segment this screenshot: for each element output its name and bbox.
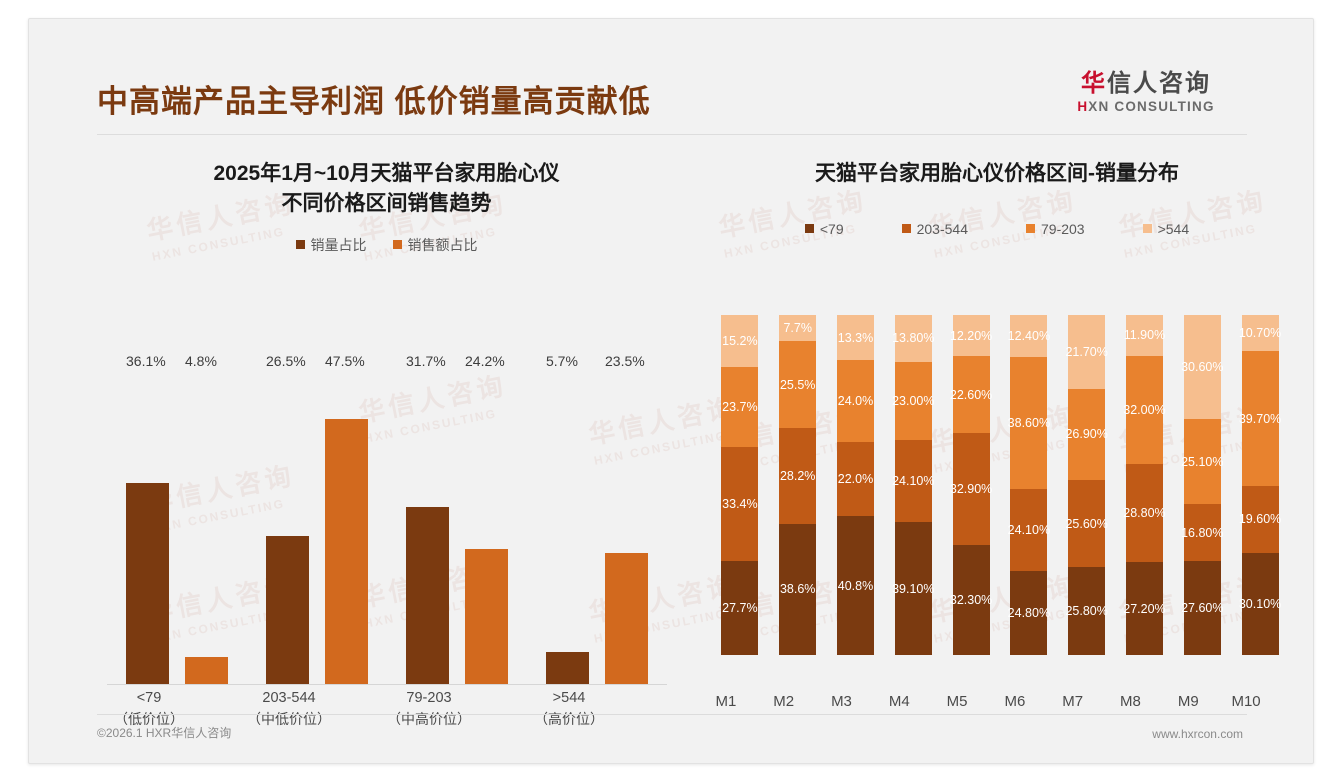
- legend-item-label: 销量占比: [311, 235, 367, 255]
- stack-segment-M8-<79[interactable]: 27.20%: [1126, 562, 1163, 655]
- stack-segment-M2-203-544[interactable]: 28.2%: [779, 428, 816, 524]
- stack-segment-label: 27.60%: [1181, 601, 1223, 615]
- legend-swatch-icon: [805, 224, 814, 233]
- stack-segment-M7-79-203[interactable]: 26.90%: [1068, 389, 1105, 480]
- stack-segment-label: 32.00%: [1123, 403, 1165, 417]
- slide-canvas: 中高端产品主导利润 低价销量高贡献低 华信人咨询 HXN CONSULTING …: [0, 0, 1340, 780]
- stack-segment-label: 12.20%: [950, 329, 992, 343]
- logo-english: HXN CONSULTING: [1051, 99, 1241, 114]
- stack-segment-label: 21.70%: [1065, 345, 1107, 359]
- stacked-column: 21.70%26.90%25.60%25.80%: [1058, 315, 1116, 689]
- x-axis-label-main: >544: [553, 690, 586, 706]
- stack-segment-M2-79-203[interactable]: 25.5%: [779, 341, 816, 428]
- x-axis-label-main: <79: [137, 690, 162, 706]
- stack-segment-M5-203-544[interactable]: 32.90%: [953, 433, 990, 545]
- stack-segment-M6->544[interactable]: 12.40%: [1010, 315, 1047, 357]
- month-label-M2: M2: [755, 693, 813, 710]
- stacked-bar-M7[interactable]: 21.70%26.90%25.60%25.80%: [1068, 315, 1105, 689]
- bar-column: 5.7%: [546, 375, 589, 684]
- stack-segment-M4-<79[interactable]: 39.10%: [895, 522, 932, 655]
- x-axis-label-sub: （中高价位）: [359, 709, 499, 731]
- stack-segment-label: 25.10%: [1181, 455, 1223, 469]
- page-title: 中高端产品主导利润 低价销量高贡献低: [97, 76, 651, 121]
- stack-segment-M1->544[interactable]: 15.2%: [721, 315, 758, 367]
- stack-segment-label: 16.80%: [1181, 526, 1223, 540]
- legend-item-1[interactable]: 销售额占比: [393, 235, 478, 255]
- legend-swatch-icon: [393, 240, 402, 249]
- stacked-bar-M2[interactable]: 7.7%25.5%28.2%38.6%: [779, 315, 816, 689]
- bar-group: 5.7%23.5%: [527, 375, 667, 684]
- stack-segment-M4-79-203[interactable]: 23.00%: [895, 362, 932, 440]
- logo-chinese-accent: 华: [1081, 70, 1107, 97]
- right-chart-legend: <79203-54479-203>544: [697, 221, 1297, 237]
- legend-item-2[interactable]: 79-203: [1026, 221, 1085, 237]
- bar-79-203-销量占比[interactable]: 31.7%: [406, 507, 449, 684]
- stack-segment-label: 30.10%: [1239, 597, 1281, 611]
- stack-segment-label: 7.7%: [783, 321, 812, 335]
- stack-segment-label: 22.0%: [838, 472, 873, 486]
- right-chart-panel: 天猫平台家用胎心仪价格区间-销量分布 <79203-54479-203>544 …: [697, 137, 1297, 717]
- left-chart-title-line2: 不同价格区间销售趋势: [79, 189, 694, 219]
- left-chart-plot: 36.1%4.8%26.5%47.5%31.7%24.2%5.7%23.5%: [107, 375, 667, 685]
- stack-segment-label: 24.10%: [1008, 523, 1050, 537]
- stack-segment-M2-<79[interactable]: 38.6%: [779, 524, 816, 655]
- bar-value-label: 36.1%: [126, 353, 166, 369]
- stacked-column: 11.90%32.00%28.80%27.20%: [1116, 315, 1174, 689]
- legend-swatch-icon: [902, 224, 911, 233]
- bar-value-label: 4.8%: [185, 353, 217, 369]
- left-chart-title: 2025年1月~10月天猫平台家用胎心仪 不同价格区间销售趋势: [79, 159, 694, 219]
- stack-segment-label: 10.70%: [1239, 326, 1281, 340]
- logo-english-accent: H: [1077, 99, 1088, 114]
- legend-item-0[interactable]: 销量占比: [296, 235, 367, 255]
- stack-segment-M5->544[interactable]: 12.20%: [953, 315, 990, 356]
- stack-segment-label: 32.90%: [950, 482, 992, 496]
- x-axis-label-sub: （中低价位）: [219, 709, 359, 731]
- month-label-M1: M1: [697, 693, 755, 710]
- stack-segment-M9-79-203[interactable]: 25.10%: [1184, 419, 1221, 504]
- bar-value-label: 47.5%: [325, 353, 365, 369]
- stack-segment-label: 19.60%: [1239, 512, 1281, 526]
- footer-copyright: ©2026.1 HXR华信人咨询: [97, 724, 231, 741]
- x-axis-label-203-544: 203-544（中低价位）: [219, 687, 359, 731]
- bar-column: 24.2%: [465, 375, 508, 684]
- stack-segment-M4-203-544[interactable]: 24.10%: [895, 440, 932, 522]
- bar-column: 23.5%: [605, 375, 648, 684]
- logo-chinese: 华信人咨询: [1051, 71, 1241, 96]
- stacked-bar-M9[interactable]: 30.60%25.10%16.80%27.60%: [1184, 315, 1221, 689]
- stacked-column: 13.3%24.0%22.0%40.8%: [827, 315, 885, 689]
- legend-swatch-icon: [1143, 224, 1152, 233]
- month-label-M6: M6: [986, 693, 1044, 710]
- bar-value-label: 23.5%: [605, 353, 645, 369]
- stack-segment-M7-<79[interactable]: 25.80%: [1068, 567, 1105, 655]
- stack-segment-label: 25.5%: [780, 378, 815, 392]
- stack-segment-M7->544[interactable]: 21.70%: [1068, 315, 1105, 389]
- month-label-M3: M3: [813, 693, 871, 710]
- left-chart-x-axis: [107, 684, 667, 685]
- bar-column: 47.5%: [325, 375, 368, 684]
- legend-item-1[interactable]: 203-544: [902, 221, 968, 237]
- stack-segment-M10-203-544[interactable]: 19.60%: [1242, 486, 1279, 553]
- stack-segment-M8->544[interactable]: 11.90%: [1126, 315, 1163, 356]
- stack-segment-M3-79-203[interactable]: 24.0%: [837, 360, 874, 442]
- legend-item-0[interactable]: <79: [805, 221, 844, 237]
- stack-segment-M1-79-203[interactable]: 23.7%: [721, 367, 758, 448]
- x-axis-label-sub: （高价位）: [499, 709, 639, 731]
- stack-segment-M10->544[interactable]: 10.70%: [1242, 315, 1279, 351]
- bar-value-label: 26.5%: [266, 353, 306, 369]
- bar-group: 36.1%4.8%: [107, 375, 247, 684]
- stacked-bar-M5[interactable]: 12.20%22.60%32.90%32.30%: [953, 315, 990, 689]
- bar-column: 26.5%: [266, 375, 309, 684]
- logo-english-rest: XN CONSULTING: [1088, 99, 1214, 114]
- stack-segment-label: 23.00%: [892, 394, 934, 408]
- stack-segment-label: 28.2%: [780, 469, 815, 483]
- stack-segment-label: 25.80%: [1065, 604, 1107, 618]
- stack-segment-label: 24.80%: [1008, 606, 1050, 620]
- bar-group: 26.5%47.5%: [247, 375, 387, 684]
- stack-segment-label: 15.2%: [722, 334, 757, 348]
- stack-segment-label: 22.60%: [950, 388, 992, 402]
- x-axis-label-main: 79-203: [406, 690, 451, 706]
- stacked-column: 30.60%25.10%16.80%27.60%: [1173, 315, 1231, 689]
- bar-203-544-销量占比[interactable]: 26.5%: [266, 536, 309, 684]
- stack-segment-label: 13.3%: [838, 331, 873, 345]
- stack-segment-M1-<79[interactable]: 27.7%: [721, 561, 758, 655]
- month-label-M9: M9: [1159, 693, 1217, 710]
- brand-logo: 华信人咨询 HXN CONSULTING: [1051, 71, 1241, 114]
- stacked-bar-M10[interactable]: 10.70%39.70%19.60%30.10%: [1242, 315, 1279, 689]
- bar-column: 36.1%: [126, 375, 169, 684]
- stacked-bar-M1[interactable]: 15.2%23.7%33.4%27.7%: [721, 315, 758, 689]
- stack-segment-M5-<79[interactable]: 32.30%: [953, 545, 990, 655]
- stack-segment-M3->544[interactable]: 13.3%: [837, 315, 874, 360]
- footer-website: www.hxrcon.com: [1152, 727, 1243, 741]
- stack-segment-M2->544[interactable]: 7.7%: [779, 315, 816, 341]
- stack-segment-label: 38.60%: [1008, 416, 1050, 430]
- stacked-bar-M4[interactable]: 13.80%23.00%24.10%39.10%: [895, 315, 932, 689]
- stack-segment-label: 39.70%: [1239, 412, 1281, 426]
- stack-segment-label: 39.10%: [892, 582, 934, 596]
- left-chart-bar-groups: 36.1%4.8%26.5%47.5%31.7%24.2%5.7%23.5%: [107, 375, 667, 684]
- legend-item-label: 203-544: [917, 221, 968, 237]
- stack-segment-label: 24.0%: [838, 394, 873, 408]
- header-divider: [97, 134, 1247, 135]
- stacked-column: 13.80%23.00%24.10%39.10%: [884, 315, 942, 689]
- x-axis-label->544: >544（高价位）: [499, 687, 639, 731]
- stack-segment-label: 13.80%: [892, 331, 934, 345]
- stack-segment-label: 25.60%: [1065, 517, 1107, 531]
- stack-segment-M9->544[interactable]: 30.60%: [1184, 315, 1221, 419]
- bar-203-544-销售额占比[interactable]: 47.5%: [325, 419, 368, 684]
- stack-segment-label: 40.8%: [838, 579, 873, 593]
- stack-segment-M10-<79[interactable]: 30.10%: [1242, 553, 1279, 655]
- right-chart-stacked-bars: 15.2%23.7%33.4%27.7%7.7%25.5%28.2%38.6%1…: [711, 315, 1289, 689]
- month-label-M5: M5: [928, 693, 986, 710]
- bar->544-销售额占比[interactable]: 23.5%: [605, 553, 648, 684]
- stacked-bar-M3[interactable]: 13.3%24.0%22.0%40.8%: [837, 315, 874, 689]
- left-chart-legend: 销量占比销售额占比: [79, 235, 694, 255]
- stack-segment-M8-203-544[interactable]: 28.80%: [1126, 464, 1163, 562]
- logo-chinese-rest: 信人咨询: [1107, 70, 1211, 97]
- stack-segment-label: 26.90%: [1065, 427, 1107, 441]
- month-label-M4: M4: [870, 693, 928, 710]
- stack-segment-label: 12.40%: [1008, 329, 1050, 343]
- stack-segment-M5-79-203[interactable]: 22.60%: [953, 356, 990, 433]
- stacked-column: 15.2%23.7%33.4%27.7%: [711, 315, 769, 689]
- stack-segment-label: 27.7%: [722, 601, 757, 615]
- stack-segment-label: 38.6%: [780, 582, 815, 596]
- stack-segment-M9-<79[interactable]: 27.60%: [1184, 561, 1221, 655]
- footer-divider: [97, 714, 1247, 715]
- right-chart-title-text: 天猫平台家用胎心仪价格区间-销量分布: [815, 162, 1179, 185]
- legend-item-3[interactable]: >544: [1143, 221, 1190, 237]
- stack-segment-M9-203-544[interactable]: 16.80%: [1184, 504, 1221, 561]
- legend-item-label: <79: [820, 221, 844, 237]
- legend-swatch-icon: [1026, 224, 1035, 233]
- bar-<79-销量占比[interactable]: 36.1%: [126, 483, 169, 684]
- stack-segment-M6-79-203[interactable]: 38.60%: [1010, 357, 1047, 488]
- stacked-column: 7.7%25.5%28.2%38.6%: [769, 315, 827, 689]
- bar-<79-销售额占比[interactable]: 4.8%: [185, 657, 228, 684]
- right-chart-plot: 15.2%23.7%33.4%27.7%7.7%25.5%28.2%38.6%1…: [711, 315, 1289, 690]
- x-axis-label-79-203: 79-203（中高价位）: [359, 687, 499, 731]
- month-label-M8: M8: [1102, 693, 1160, 710]
- stack-segment-M6-203-544[interactable]: 24.10%: [1010, 489, 1047, 571]
- stack-segment-label: 30.60%: [1181, 360, 1223, 374]
- stack-segment-M10-79-203[interactable]: 39.70%: [1242, 351, 1279, 486]
- slide-header: 中高端产品主导利润 低价销量高贡献低 华信人咨询 HXN CONSULTING: [29, 19, 1313, 127]
- stack-segment-label: 11.90%: [1124, 328, 1165, 342]
- stacked-bar-M8[interactable]: 11.90%32.00%28.80%27.20%: [1126, 315, 1163, 689]
- legend-item-label: 79-203: [1041, 221, 1085, 237]
- stack-segment-label: 28.80%: [1123, 506, 1165, 520]
- bar-column: 31.7%: [406, 375, 449, 684]
- bar-column: 4.8%: [185, 375, 228, 684]
- legend-swatch-icon: [296, 240, 305, 249]
- stack-segment-label: 24.10%: [892, 474, 934, 488]
- stack-segment-M7-203-544[interactable]: 25.60%: [1068, 480, 1105, 567]
- bar-group: 31.7%24.2%: [387, 375, 527, 684]
- stack-segment-M4->544[interactable]: 13.80%: [895, 315, 932, 362]
- legend-item-label: 销售额占比: [408, 235, 478, 255]
- stack-segment-M3-203-544[interactable]: 22.0%: [837, 442, 874, 517]
- bar-value-label: 24.2%: [465, 353, 505, 369]
- stack-segment-label: 32.30%: [950, 593, 992, 607]
- stack-segment-M8-79-203[interactable]: 32.00%: [1126, 356, 1163, 465]
- left-chart-panel: 2025年1月~10月天猫平台家用胎心仪 不同价格区间销售趋势 销量占比销售额占…: [79, 137, 694, 717]
- bar->544-销量占比[interactable]: 5.7%: [546, 652, 589, 684]
- stack-segment-label: 23.7%: [722, 400, 757, 414]
- right-chart-title: 天猫平台家用胎心仪价格区间-销量分布: [697, 159, 1297, 189]
- stacked-column: 10.70%39.70%19.60%30.10%: [1231, 315, 1289, 689]
- stack-segment-M6-<79[interactable]: 24.80%: [1010, 571, 1047, 655]
- stacked-column: 12.40%38.60%24.10%24.80%: [1000, 315, 1058, 689]
- right-chart-x-labels: M1M2M3M4M5M6M7M8M9M10: [697, 693, 1275, 710]
- month-label-M7: M7: [1044, 693, 1102, 710]
- stack-segment-M3-<79[interactable]: 40.8%: [837, 516, 874, 655]
- legend-item-label: >544: [1158, 221, 1190, 237]
- bar-79-203-销售额占比[interactable]: 24.2%: [465, 549, 508, 684]
- stack-segment-label: 33.4%: [722, 497, 757, 511]
- bar-value-label: 31.7%: [406, 353, 446, 369]
- left-chart-title-line1: 2025年1月~10月天猫平台家用胎心仪: [213, 162, 559, 185]
- slide-card: 中高端产品主导利润 低价销量高贡献低 华信人咨询 HXN CONSULTING …: [28, 18, 1314, 764]
- stacked-bar-M6[interactable]: 12.40%38.60%24.10%24.80%: [1010, 315, 1047, 689]
- bar-value-label: 5.7%: [546, 353, 578, 369]
- stack-segment-label: 27.20%: [1123, 602, 1165, 616]
- stack-segment-M1-203-544[interactable]: 33.4%: [721, 447, 758, 561]
- month-label-M10: M10: [1217, 693, 1275, 710]
- stacked-column: 12.20%22.60%32.90%32.30%: [942, 315, 1000, 689]
- x-axis-label-main: 203-544: [262, 690, 315, 706]
